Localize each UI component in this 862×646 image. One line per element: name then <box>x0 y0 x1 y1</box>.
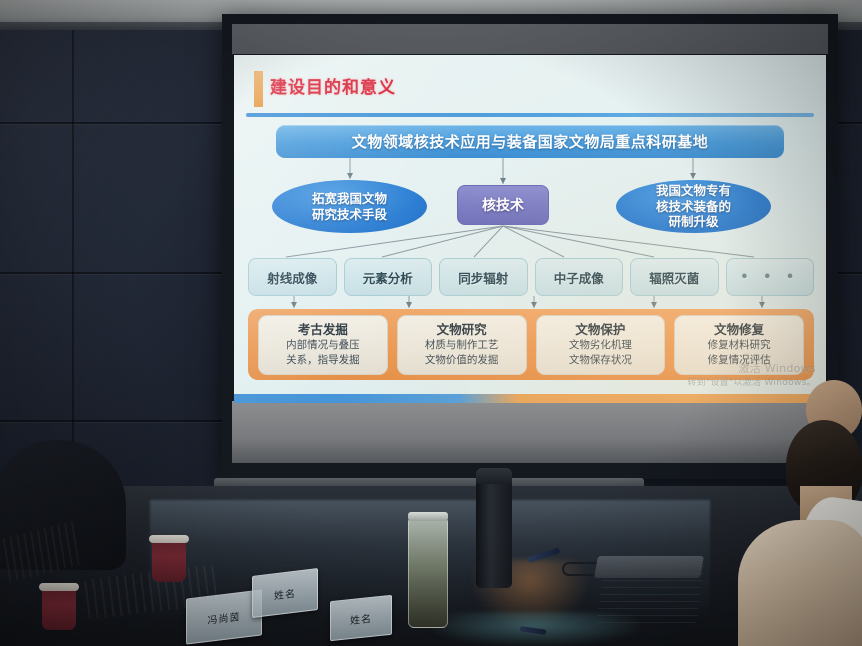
application-subtext-line2: 文物价值的发掘 <box>425 354 499 367</box>
application-subtext-line1: 修复材料研究 <box>708 339 771 352</box>
node-dedicated-line1: 我国文物专有 <box>656 183 731 198</box>
application-subtext-line2: 关系，指导发掘 <box>286 354 360 367</box>
application-card: 文物研究 材质与制作工艺 文物价值的发掘 <box>397 315 527 375</box>
node-nuclear-technology: 核技术 <box>457 185 549 225</box>
conference-room-photo: 建设目的和意义 文物领域核技术应用与装备国家文物局重点科研基地 <box>0 0 862 646</box>
node-broaden-research: 拓宽我国文物 研究技术手段 <box>272 180 427 233</box>
tech-item: 中子成像 <box>535 258 624 296</box>
application-title: 文物修复 <box>714 322 764 337</box>
document-paper <box>596 566 704 626</box>
tech-item-ellipsis: • • • <box>726 258 815 296</box>
node-dedicated-equipment: 我国文物专有 核技术装备的 研制升级 <box>616 180 771 233</box>
application-title: 考古发掘 <box>298 322 348 337</box>
name-placard: 姓名 <box>252 568 318 618</box>
tech-item: 元素分析 <box>344 258 433 296</box>
thermos-bottle-cap <box>476 468 512 484</box>
seated-attendee-white-shirt <box>738 520 862 646</box>
application-title: 文物研究 <box>437 322 487 337</box>
application-card: 考古发掘 内部情况与叠压 关系，指导发掘 <box>258 315 388 375</box>
application-subtext-line1: 内部情况与叠压 <box>286 339 360 352</box>
tech-item: 辐照灭菌 <box>630 258 719 296</box>
application-title: 文物保护 <box>575 322 625 337</box>
glass-tea-jar-lid <box>408 512 448 521</box>
paper-cup <box>152 540 186 582</box>
technology-row: 射线成像 元素分析 同步辐射 中子成像 辐照灭菌 • • • <box>248 258 814 296</box>
application-subtext-line2: 文物保存状况 <box>569 354 632 367</box>
tech-item: 射线成像 <box>248 258 337 296</box>
projection-screen-top-margin <box>232 24 828 54</box>
thermos-bottle <box>476 468 512 588</box>
application-subtext-line1: 材质与制作工艺 <box>425 339 499 352</box>
node-broaden-line2: 研究技术手段 <box>312 207 387 222</box>
application-subtext-line1: 文物劣化机理 <box>569 339 632 352</box>
projection-screen-bottom-margin <box>232 401 828 463</box>
windows-activation-watermark: 激活 Windows 转到"设置"以激活 Windows。 <box>687 362 816 389</box>
watermark-line2: 转到"设置"以激活 Windows。 <box>687 377 816 389</box>
tech-item: 同步辐射 <box>439 258 528 296</box>
paper-cup <box>42 588 76 630</box>
slide-footer-bar <box>234 394 826 403</box>
watermark-line1: 激活 Windows <box>687 362 816 377</box>
wall-seam-vertical <box>72 30 74 500</box>
presentation-slide: 建设目的和意义 文物领域核技术应用与装备国家文物局重点科研基地 <box>234 55 826 403</box>
node-dedicated-line2: 核技术装备的 <box>656 199 731 214</box>
node-broaden-line1: 拓宽我国文物 <box>312 191 387 206</box>
application-card: 文物保护 文物劣化机理 文物保存状况 <box>536 315 666 375</box>
node-dedicated-line3: 研制升级 <box>668 214 718 229</box>
glass-tea-jar <box>408 518 448 628</box>
name-placard: 姓名 <box>330 595 392 642</box>
name-placard: 冯尚茵 <box>186 589 262 644</box>
